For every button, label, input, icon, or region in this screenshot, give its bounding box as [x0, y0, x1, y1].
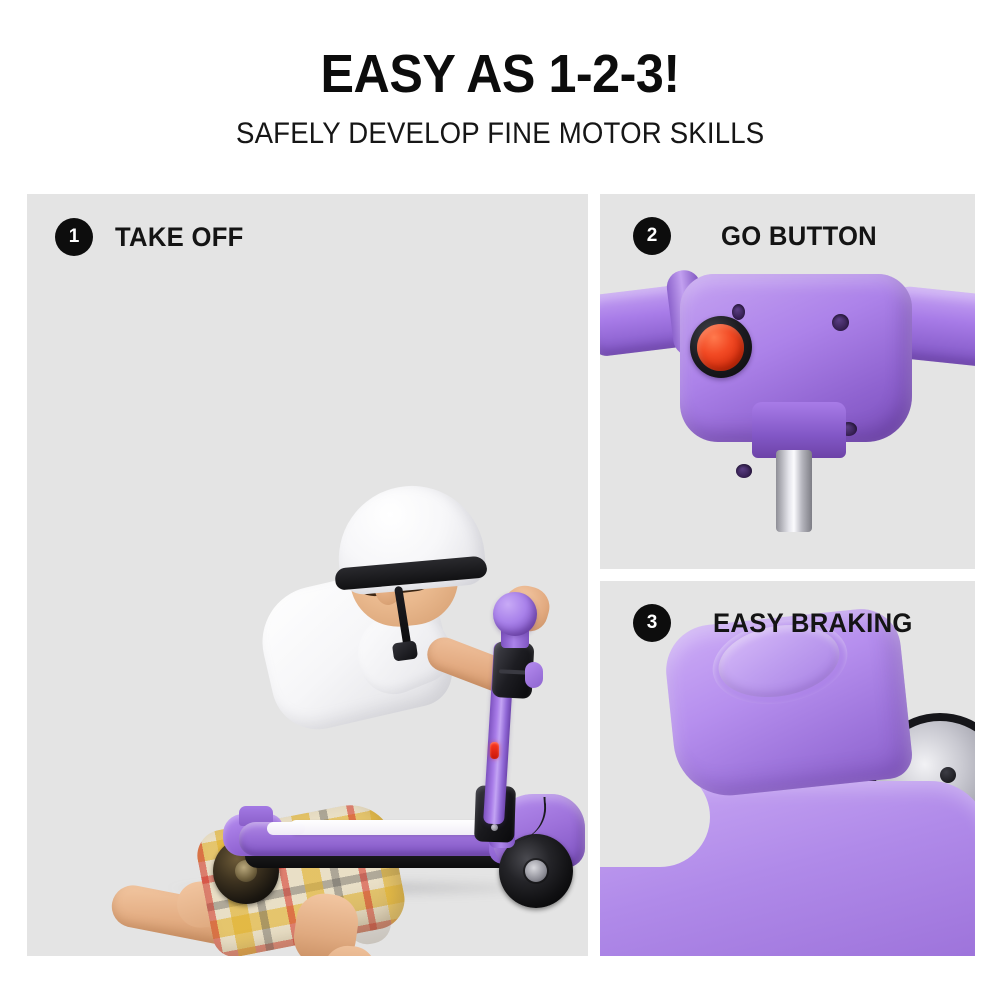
- deck-grip-strip-front: [267, 822, 305, 835]
- header: EASY AS 1-2-3! SAFELY DEVELOP FINE MOTOR…: [0, 0, 1000, 185]
- step-badge-1: 1: [55, 218, 93, 256]
- scooter: [27, 194, 588, 956]
- panel-easy-braking[interactable]: 3 EASY BRAKING: [600, 581, 975, 956]
- panel-2-title: GO BUTTON: [721, 221, 877, 252]
- front-wheel-hub: [525, 860, 547, 882]
- panel-1-heading: 1 TAKE OFF: [55, 218, 250, 256]
- panel-2-heading: 2 GO BUTTON: [633, 217, 885, 255]
- go-button-red[interactable]: [697, 324, 744, 371]
- led-indicator: [490, 742, 499, 759]
- vent-hole: [732, 304, 745, 320]
- panel-3-heading: 3 EASY BRAKING: [633, 604, 923, 642]
- panel-grid: 1 TAKE OFF 2 GO BUTT: [27, 194, 975, 956]
- vent-hole: [832, 314, 849, 331]
- panel-take-off[interactable]: 1 TAKE OFF: [27, 194, 588, 956]
- panel-go-button[interactable]: 2 GO BUTTON: [600, 194, 975, 569]
- clamp-lever: [525, 662, 543, 688]
- step-badge-2: 2: [633, 217, 671, 255]
- panel-1-title: TAKE OFF: [115, 222, 244, 253]
- page-title: EASY AS 1-2-3!: [320, 47, 679, 101]
- page-subtitle: SAFELY DEVELOP FINE MOTOR SKILLS: [236, 117, 764, 151]
- vent-hole: [736, 464, 752, 478]
- step-badge-3: 3: [633, 604, 671, 642]
- infographic-page: EASY AS 1-2-3! SAFELY DEVELOP FINE MOTOR…: [0, 0, 1000, 1000]
- child-riding-scooter-photo: [27, 194, 588, 956]
- clamp-screw: [491, 824, 498, 831]
- handlebar-grip: [493, 592, 537, 636]
- panel-3-title: EASY BRAKING: [713, 608, 913, 639]
- silver-stem-tube: [776, 450, 812, 532]
- rear-wheel-bolt: [940, 767, 956, 783]
